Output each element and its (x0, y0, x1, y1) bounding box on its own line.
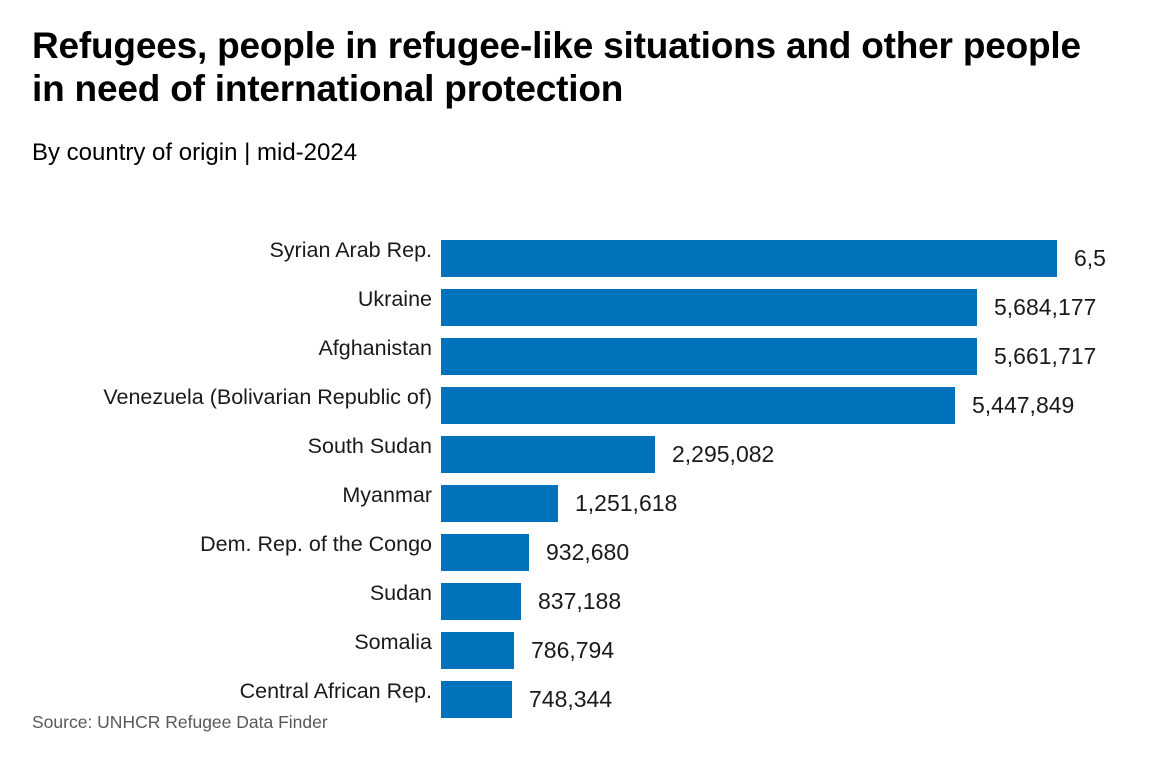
bar-category-label: Central African Rep. (0, 673, 432, 710)
bar-row: South Sudan2,295,082 (0, 428, 1152, 477)
bar[interactable] (441, 632, 514, 669)
bar-chart-plot-area: Syrian Arab Rep.6,5Ukraine5,684,177Afgha… (0, 232, 1152, 680)
bar-category-label: Myanmar (0, 477, 432, 514)
bar-category-label: Ukraine (0, 281, 432, 318)
bar-category-label: Dem. Rep. of the Congo (0, 526, 432, 563)
bar-value-label: 837,188 (538, 583, 621, 620)
bar-value-label: 748,344 (529, 681, 612, 718)
bar-track: 786,794 (441, 632, 1152, 669)
bar[interactable] (441, 681, 512, 718)
bar-value-label: 1,251,618 (575, 485, 677, 522)
bar-row: Syrian Arab Rep.6,5 (0, 232, 1152, 281)
bar-value-label: 2,295,082 (672, 436, 774, 473)
bar-value-label: 5,447,849 (972, 387, 1074, 424)
bar-value-label: 932,680 (546, 534, 629, 571)
bar-value-label: 5,661,717 (994, 338, 1096, 375)
chart-header: Refugees, people in refugee-like situati… (32, 24, 1132, 167)
bar-track: 6,5 (441, 240, 1152, 277)
bar-track: 748,344 (441, 681, 1152, 718)
bar-track: 5,661,717 (441, 338, 1152, 375)
bar[interactable] (441, 338, 977, 375)
bar[interactable] (441, 436, 655, 473)
chart-subtitle: By country of origin | mid-2024 (32, 111, 1132, 168)
bar-track: 5,684,177 (441, 289, 1152, 326)
bar-row: Ukraine5,684,177 (0, 281, 1152, 330)
bar-value-label: 5,684,177 (994, 289, 1096, 326)
bar-row: Somalia786,794 (0, 624, 1152, 673)
bar-row: Afghanistan5,661,717 (0, 330, 1152, 379)
bar[interactable] (441, 485, 558, 522)
bar-track: 837,188 (441, 583, 1152, 620)
bar-row: Sudan837,188 (0, 575, 1152, 624)
bar-category-label: Venezuela (Bolivarian Republic of) (0, 379, 432, 416)
chart-page: Refugees, people in refugee-like situati… (0, 0, 1152, 768)
bar-row: Myanmar1,251,618 (0, 477, 1152, 526)
bar-value-label: 786,794 (531, 632, 614, 669)
page-title: Refugees, people in refugee-like situati… (32, 24, 1122, 111)
bar-row: Venezuela (Bolivarian Republic of)5,447,… (0, 379, 1152, 428)
bar-category-label: Somalia (0, 624, 432, 661)
bar[interactable] (441, 289, 977, 326)
bar-track: 1,251,618 (441, 485, 1152, 522)
bar-category-label: Syrian Arab Rep. (0, 232, 432, 269)
bar-track: 932,680 (441, 534, 1152, 571)
bar-row: Dem. Rep. of the Congo932,680 (0, 526, 1152, 575)
bar-value-label: 6,5 (1074, 240, 1106, 277)
source-note: Source: UNHCR Refugee Data Finder (32, 712, 328, 733)
bar-track: 5,447,849 (441, 387, 1152, 424)
bar-category-label: Afghanistan (0, 330, 432, 367)
bar[interactable] (441, 240, 1057, 277)
bar[interactable] (441, 387, 955, 424)
bar[interactable] (441, 583, 521, 620)
bar[interactable] (441, 534, 529, 571)
bar-track: 2,295,082 (441, 436, 1152, 473)
bar-category-label: Sudan (0, 575, 432, 612)
bar-category-label: South Sudan (0, 428, 432, 465)
